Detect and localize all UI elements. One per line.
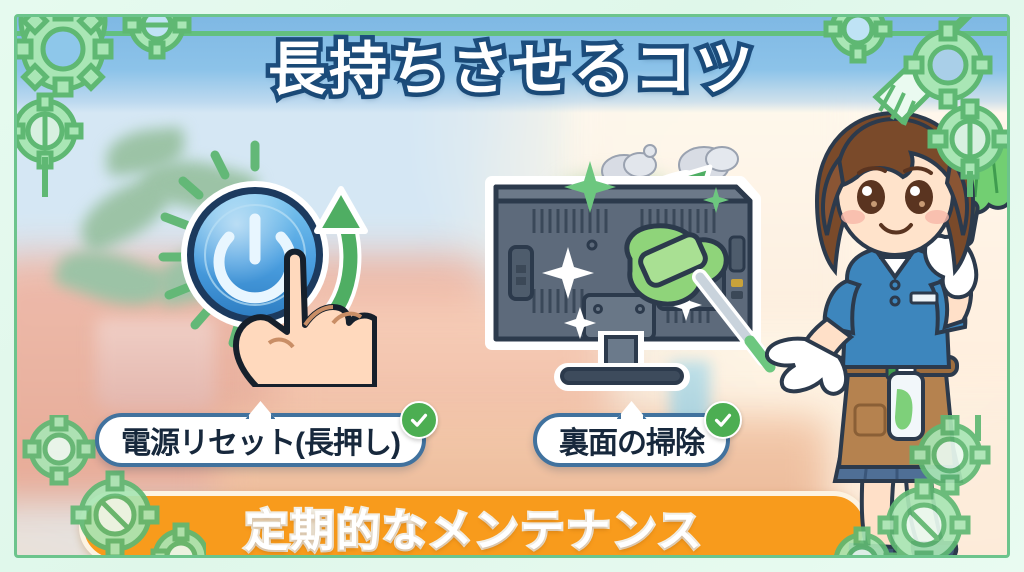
cleaning-staff-character xyxy=(765,105,1007,555)
check-circle-icon xyxy=(704,401,742,439)
tip-pill-label: 電源リセット(長押し) xyxy=(121,418,400,462)
arm-left xyxy=(767,319,851,394)
blush-right xyxy=(925,210,949,224)
check-circle-icon xyxy=(400,401,438,439)
eye-right xyxy=(905,180,933,214)
poster-canvas: 電源リセット(長押し) 裏面の掃除 定期的なメンテナンス 長持ちさせるコツ xyxy=(0,0,1024,572)
tip-pill-label: 裏面の掃除 xyxy=(559,418,704,462)
eye-left xyxy=(857,180,885,214)
tip-pill-back-cleaning[interactable]: 裏面の掃除 xyxy=(533,413,730,467)
power-reset-illustration xyxy=(137,137,377,387)
bottom-banner[interactable]: 定期的なメンテナンス xyxy=(79,491,869,555)
tip-pill-power-reset[interactable]: 電源リセット(長押し) xyxy=(95,413,426,467)
shoe-icon xyxy=(913,543,956,555)
bottom-banner-label: 定期的なメンテナンス xyxy=(244,495,703,555)
page-title: 長持ちさせるコツ xyxy=(17,31,1007,109)
blush-left xyxy=(841,210,865,224)
illustration-stage: 電源リセット(長押し) 裏面の掃除 定期的なメンテナンス 長持ちさせるコツ xyxy=(17,17,1007,555)
name-tag xyxy=(911,293,937,303)
tv-cleaning-illustration xyxy=(472,137,782,407)
reset-arrow-head-icon xyxy=(317,189,365,231)
shoe-icon xyxy=(851,545,896,555)
